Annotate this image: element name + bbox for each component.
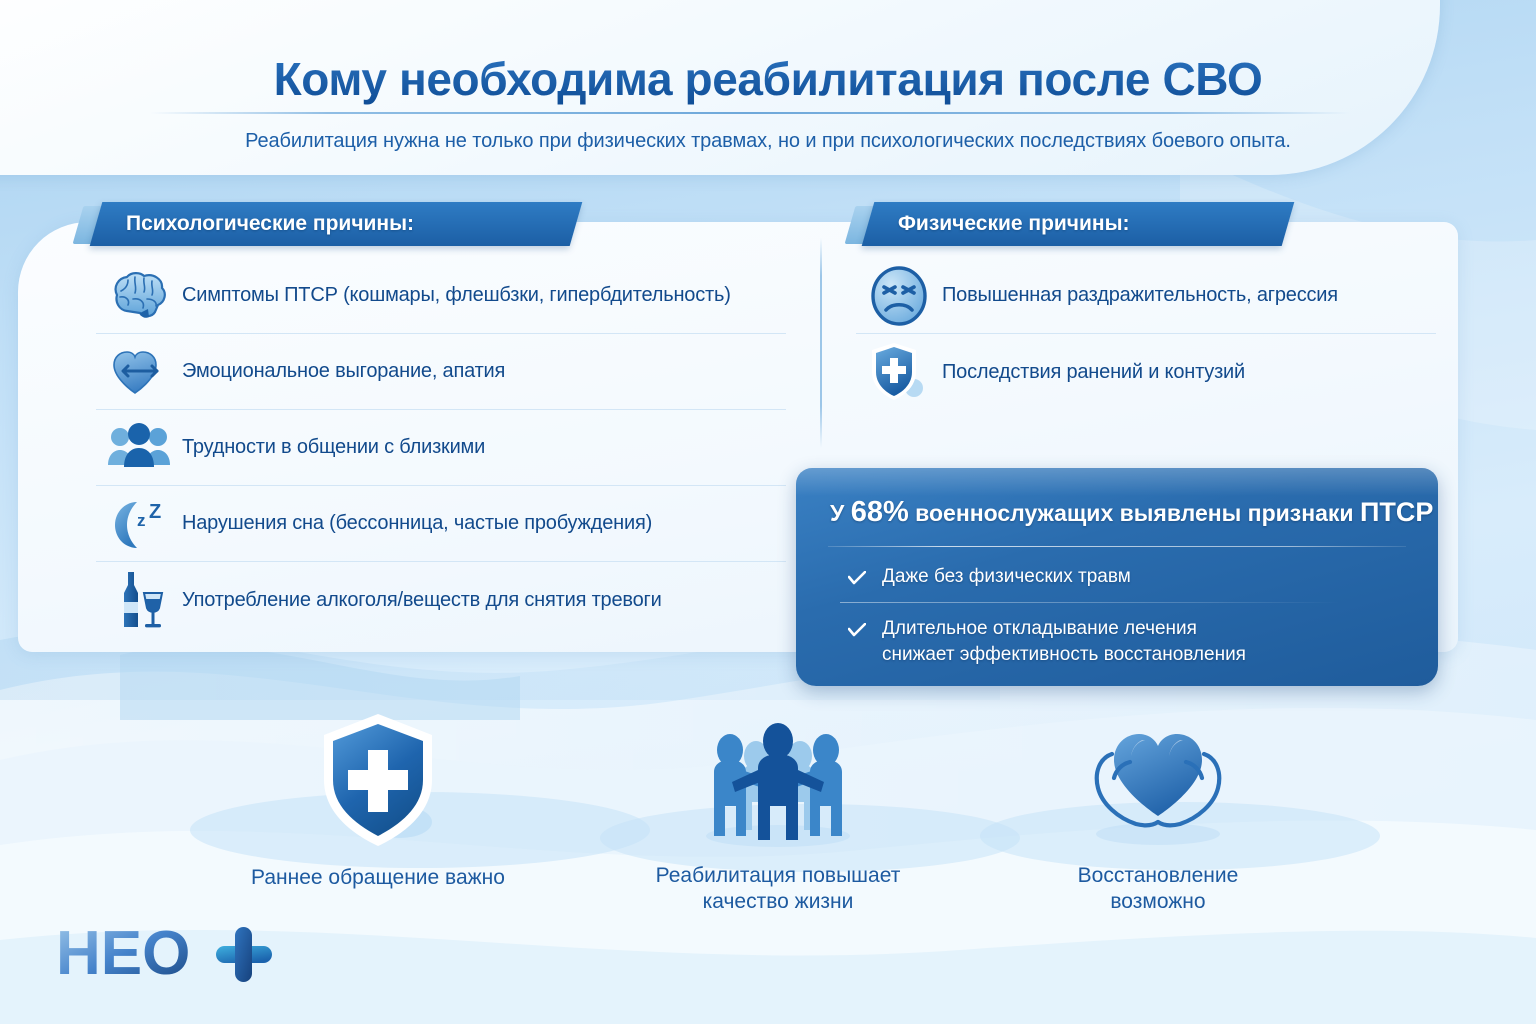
list-item: Повышенная раздражительность, агрессия: [856, 258, 1436, 334]
statistic-callout: У 68% военнослужащих выявлены признаки П…: [796, 468, 1438, 686]
list-item-label: Трудности в общении с близкими: [182, 436, 485, 459]
list-item-label: Последствия ранений и контузий: [942, 361, 1245, 384]
check-icon: [848, 567, 866, 593]
list-item: Трудности в общении с близкими: [96, 410, 786, 486]
brand-logo: НЕО: [56, 918, 286, 993]
bottle-glass-icon: [96, 565, 182, 635]
physical-heading-label: Физические причины:: [898, 202, 1130, 246]
physical-section-header: Физические причины:: [868, 202, 1288, 246]
callout-list-item: Длительное откладывание лечения снижает …: [848, 616, 1246, 667]
callout-abbr: ПТСР: [1360, 497, 1433, 527]
feature-quality-of-life: Реабилитация повышает качество жизни: [578, 718, 978, 916]
shield-cross-icon: [856, 337, 942, 407]
list-item-label: Эмоциональное выгорание, апатия: [182, 360, 505, 383]
callout-prefix: У: [830, 500, 844, 526]
feature-recovery-possible: Восстановление возможно: [958, 718, 1358, 916]
list-item: Последствия ранений и контузий: [856, 334, 1436, 410]
feature-early-help: Раннее обращение важно: [178, 710, 578, 891]
list-item: z Z Нарушения сна (бессонница, частые пр…: [96, 486, 786, 562]
physical-causes-list: Повышенная раздражительность, агрессия П…: [856, 258, 1436, 410]
moon-sleep-icon: z Z: [96, 489, 182, 559]
callout-divider: [828, 546, 1406, 547]
shield-cross-icon: [178, 710, 578, 855]
callout-headline-rest: военнослужащих выявлены признаки: [915, 500, 1353, 526]
check-icon: [848, 619, 866, 645]
hands-heart-icon: [958, 718, 1358, 853]
people-support-icon: [578, 718, 978, 853]
list-item: Употребление алкоголя/веществ для снятия…: [96, 562, 786, 638]
page-subtitle: Реабилитация нужна не только при физичес…: [0, 130, 1536, 153]
feature-caption: Реабилитация повышает качество жизни: [578, 863, 978, 916]
callout-item-label: Даже без физических травм: [882, 564, 1131, 590]
psychological-heading-label: Психологические причины:: [126, 202, 414, 246]
svg-text:z: z: [137, 511, 146, 530]
people-group-icon: [96, 413, 182, 483]
list-item-label: Употребление алкоголя/веществ для снятия…: [182, 589, 662, 612]
list-item-label: Повышенная раздражительность, агрессия: [942, 284, 1338, 307]
callout-list-item: Даже без физических травм: [848, 564, 1131, 593]
callout-percent: 68%: [851, 496, 909, 528]
feature-caption: Раннее обращение важно: [178, 865, 578, 891]
column-divider: [820, 238, 822, 448]
logo-plus-icon: [216, 927, 272, 982]
list-item-label: Симптомы ПТСР (кошмары, флешбзки, гиперб…: [182, 284, 731, 307]
psychological-section-header: Психологические причины:: [96, 202, 576, 246]
callout-headline: У 68% военнослужащих выявлены признаки П…: [830, 496, 1414, 529]
heart-burnout-icon: [96, 337, 182, 407]
list-item: Эмоциональное выгорание, апатия: [96, 334, 786, 410]
callout-item-label: Длительное откладывание лечения снижает …: [882, 616, 1246, 667]
feature-caption: Восстановление возможно: [958, 863, 1358, 916]
list-item-label: Нарушения сна (бессонница, частые пробуж…: [182, 512, 652, 535]
brain-icon: [96, 261, 182, 331]
list-item: Симптомы ПТСР (кошмары, флешбзки, гиперб…: [96, 258, 786, 334]
page-title: Кому необходима реабилитация после СВО: [0, 52, 1536, 106]
callout-divider-2: [840, 602, 1340, 603]
psychological-causes-list: Симптомы ПТСР (кошмары, флешбзки, гиперб…: [96, 258, 786, 638]
angry-face-icon: [856, 261, 942, 331]
svg-text:Z: Z: [149, 501, 161, 523]
logo-text: НЕО: [56, 919, 190, 988]
title-divider: [150, 112, 1350, 114]
